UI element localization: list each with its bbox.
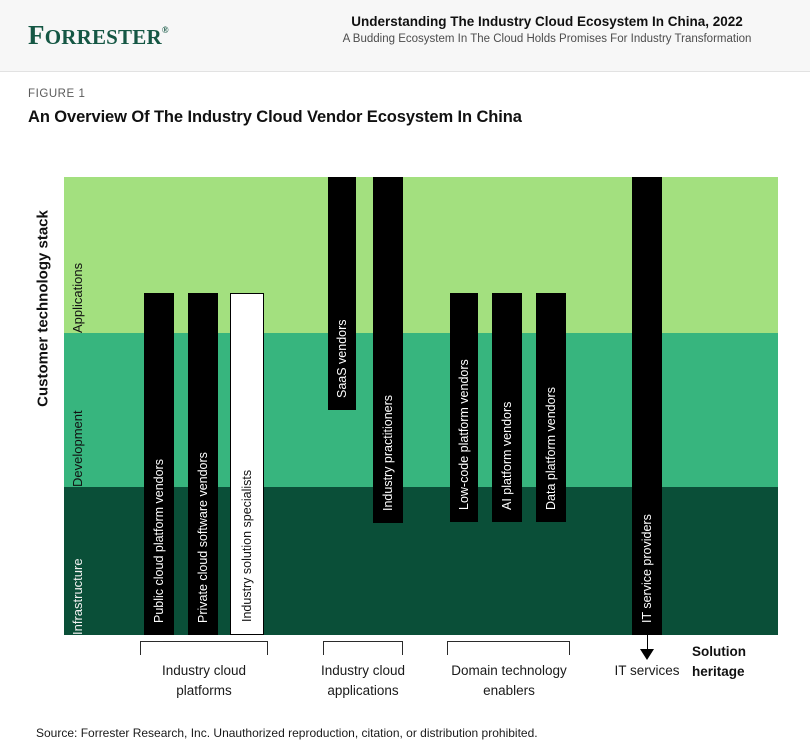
x-axis-title: Solution heritage <box>692 642 800 682</box>
vendor-bar-public-cloud-platform-vendors[interactable]: Public cloud platform vendors <box>144 293 174 635</box>
group-label-line1: Domain technology <box>430 661 588 681</box>
group-bracket-industry-cloud-applications <box>323 641 403 655</box>
vendor-bar-label: Data platform vendors <box>544 387 558 510</box>
group-label-industry-cloud-platforms: Industry cloud platforms <box>126 661 282 701</box>
plot-area: Applications Development Infrastructure … <box>64 177 778 635</box>
group-label-industry-cloud-applications: Industry cloud applications <box>285 661 441 701</box>
vendor-bar-saas-vendors[interactable]: SaaS vendors <box>328 177 356 410</box>
layer-label-infrastructure: Infrastructure <box>70 435 85 635</box>
vendor-bar-label: Private cloud software vendors <box>196 452 210 623</box>
source-note: Source: Forrester Research, Inc. Unautho… <box>36 726 538 740</box>
chart-container: Customer technology stack Applications D… <box>0 0 810 746</box>
group-label-line2: applications <box>285 681 441 701</box>
vendor-bar-data-platform-vendors[interactable]: Data platform vendors <box>536 293 566 522</box>
vendor-bar-label: Low-code platform vendors <box>457 359 471 510</box>
group-bracket-industry-cloud-platforms <box>140 641 268 655</box>
vendor-bar-label: Industry solution specialists <box>240 470 254 622</box>
it-services-arrow-head <box>640 649 654 660</box>
group-label-line2: enablers <box>430 681 588 701</box>
vendor-bar-it-service-providers[interactable]: IT service providers <box>632 177 662 635</box>
vendor-bar-label: SaaS vendors <box>335 319 349 398</box>
y-axis-title: Customer technology stack <box>35 194 52 424</box>
group-label-it-services: IT services <box>604 661 690 681</box>
group-bracket-domain-technology-enablers <box>447 641 570 655</box>
x-axis-title-line1: Solution <box>692 642 800 662</box>
group-label-domain-technology-enablers: Domain technology enablers <box>430 661 588 701</box>
x-axis-title-line2: heritage <box>692 662 800 682</box>
group-label-line2: platforms <box>126 681 282 701</box>
vendor-bar-label: Industry practitioners <box>381 395 395 511</box>
vendor-bar-ai-platform-vendors[interactable]: AI platform vendors <box>492 293 522 522</box>
vendor-bar-industry-practitioners[interactable]: Industry practitioners <box>373 177 403 523</box>
group-label-line1: IT services <box>604 661 690 681</box>
vendor-bar-private-cloud-software-vendors[interactable]: Private cloud software vendors <box>188 293 218 635</box>
group-label-line1: Industry cloud <box>126 661 282 681</box>
vendor-bar-label: IT service providers <box>640 514 654 623</box>
vendor-bar-low-code-platform-vendors[interactable]: Low-code platform vendors <box>450 293 478 522</box>
group-label-line1: Industry cloud <box>285 661 441 681</box>
vendor-bar-label: Public cloud platform vendors <box>152 459 166 623</box>
vendor-bar-industry-solution-specialists[interactable]: Industry solution specialists <box>230 293 264 635</box>
vendor-bar-label: AI platform vendors <box>500 402 514 510</box>
